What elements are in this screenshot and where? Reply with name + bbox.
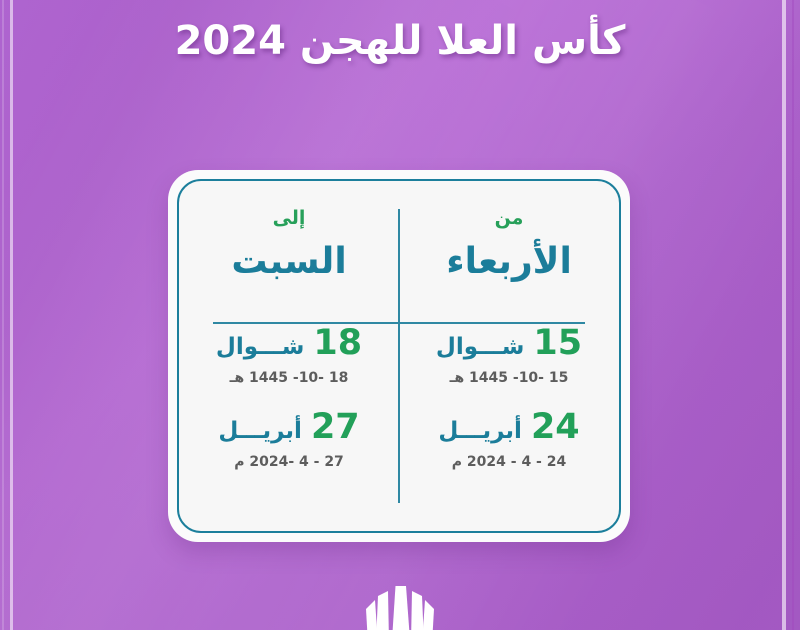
column-to-hijri-line: 18 شـــوال: [179, 326, 399, 361]
background-stripe-left: [10, 0, 13, 630]
column-to-gregorian: 27 أبريـــل 27 - 4 -2024 م: [179, 410, 399, 470]
column-to-hijri-full: 18 -10- 1445 هـ: [179, 370, 399, 386]
poster-title: كأس العلا للهجن 2024: [0, 14, 800, 68]
column-from-hijri-full: 15 -10- 1445 هـ: [399, 370, 619, 386]
column-to-gregorian-full: 27 - 4 -2024 م: [179, 454, 399, 470]
column-from-hijri: 15 شـــوال 15 -10- 1445 هـ: [399, 326, 619, 386]
column-to-hijri-month: شـــوال: [216, 336, 304, 359]
column-from-hijri-line: 15 شـــوال: [399, 326, 619, 361]
column-to: إلى السبت 18 شـــوال 18 -10- 1445 هـ 27 …: [179, 181, 399, 531]
column-from-gregorian: 24 أبريـــل 24 - 4 - 2024 م: [399, 410, 619, 470]
column-from-label: من: [495, 209, 524, 228]
date-card-inner: من الأربعاء 15 شـــوال 15 -10- 1445 هـ 2…: [177, 179, 621, 533]
column-to-label: إلى: [273, 209, 306, 228]
column-to-gregorian-month: أبريـــل: [218, 420, 302, 443]
column-from: من الأربعاء 15 شـــوال 15 -10- 1445 هـ 2…: [399, 181, 619, 531]
column-from-gregorian-line: 24 أبريـــل: [399, 410, 619, 445]
background-stripe-outer-left: [2, 0, 4, 630]
column-from-day-name: الأربعاء: [446, 244, 572, 280]
column-from-gregorian-full: 24 - 4 - 2024 م: [399, 454, 619, 470]
column-to-gregorian-day: 27: [311, 410, 360, 445]
column-to-hijri-day: 18: [313, 326, 362, 361]
background-stripe-outer-right: [792, 0, 794, 630]
column-from-gregorian-day: 24: [531, 410, 580, 445]
background-stripe-right: [782, 0, 786, 630]
date-columns: من الأربعاء 15 شـــوال 15 -10- 1445 هـ 2…: [179, 181, 619, 531]
column-from-gregorian-month: أبريـــل: [438, 420, 522, 443]
poster-canvas: كأس العلا للهجن 2024 من الأربعاء 15 شـــ…: [0, 0, 800, 630]
column-from-hijri-day: 15: [533, 326, 582, 361]
column-to-hijri: 18 شـــوال 18 -10- 1445 هـ: [179, 326, 399, 386]
fan-crown-logo-icon: [354, 582, 446, 630]
column-to-gregorian-line: 27 أبريـــل: [179, 410, 399, 445]
date-card: من الأربعاء 15 شـــوال 15 -10- 1445 هـ 2…: [168, 170, 630, 542]
column-to-day-name: السبت: [231, 244, 346, 280]
column-from-hijri-month: شـــوال: [436, 336, 524, 359]
